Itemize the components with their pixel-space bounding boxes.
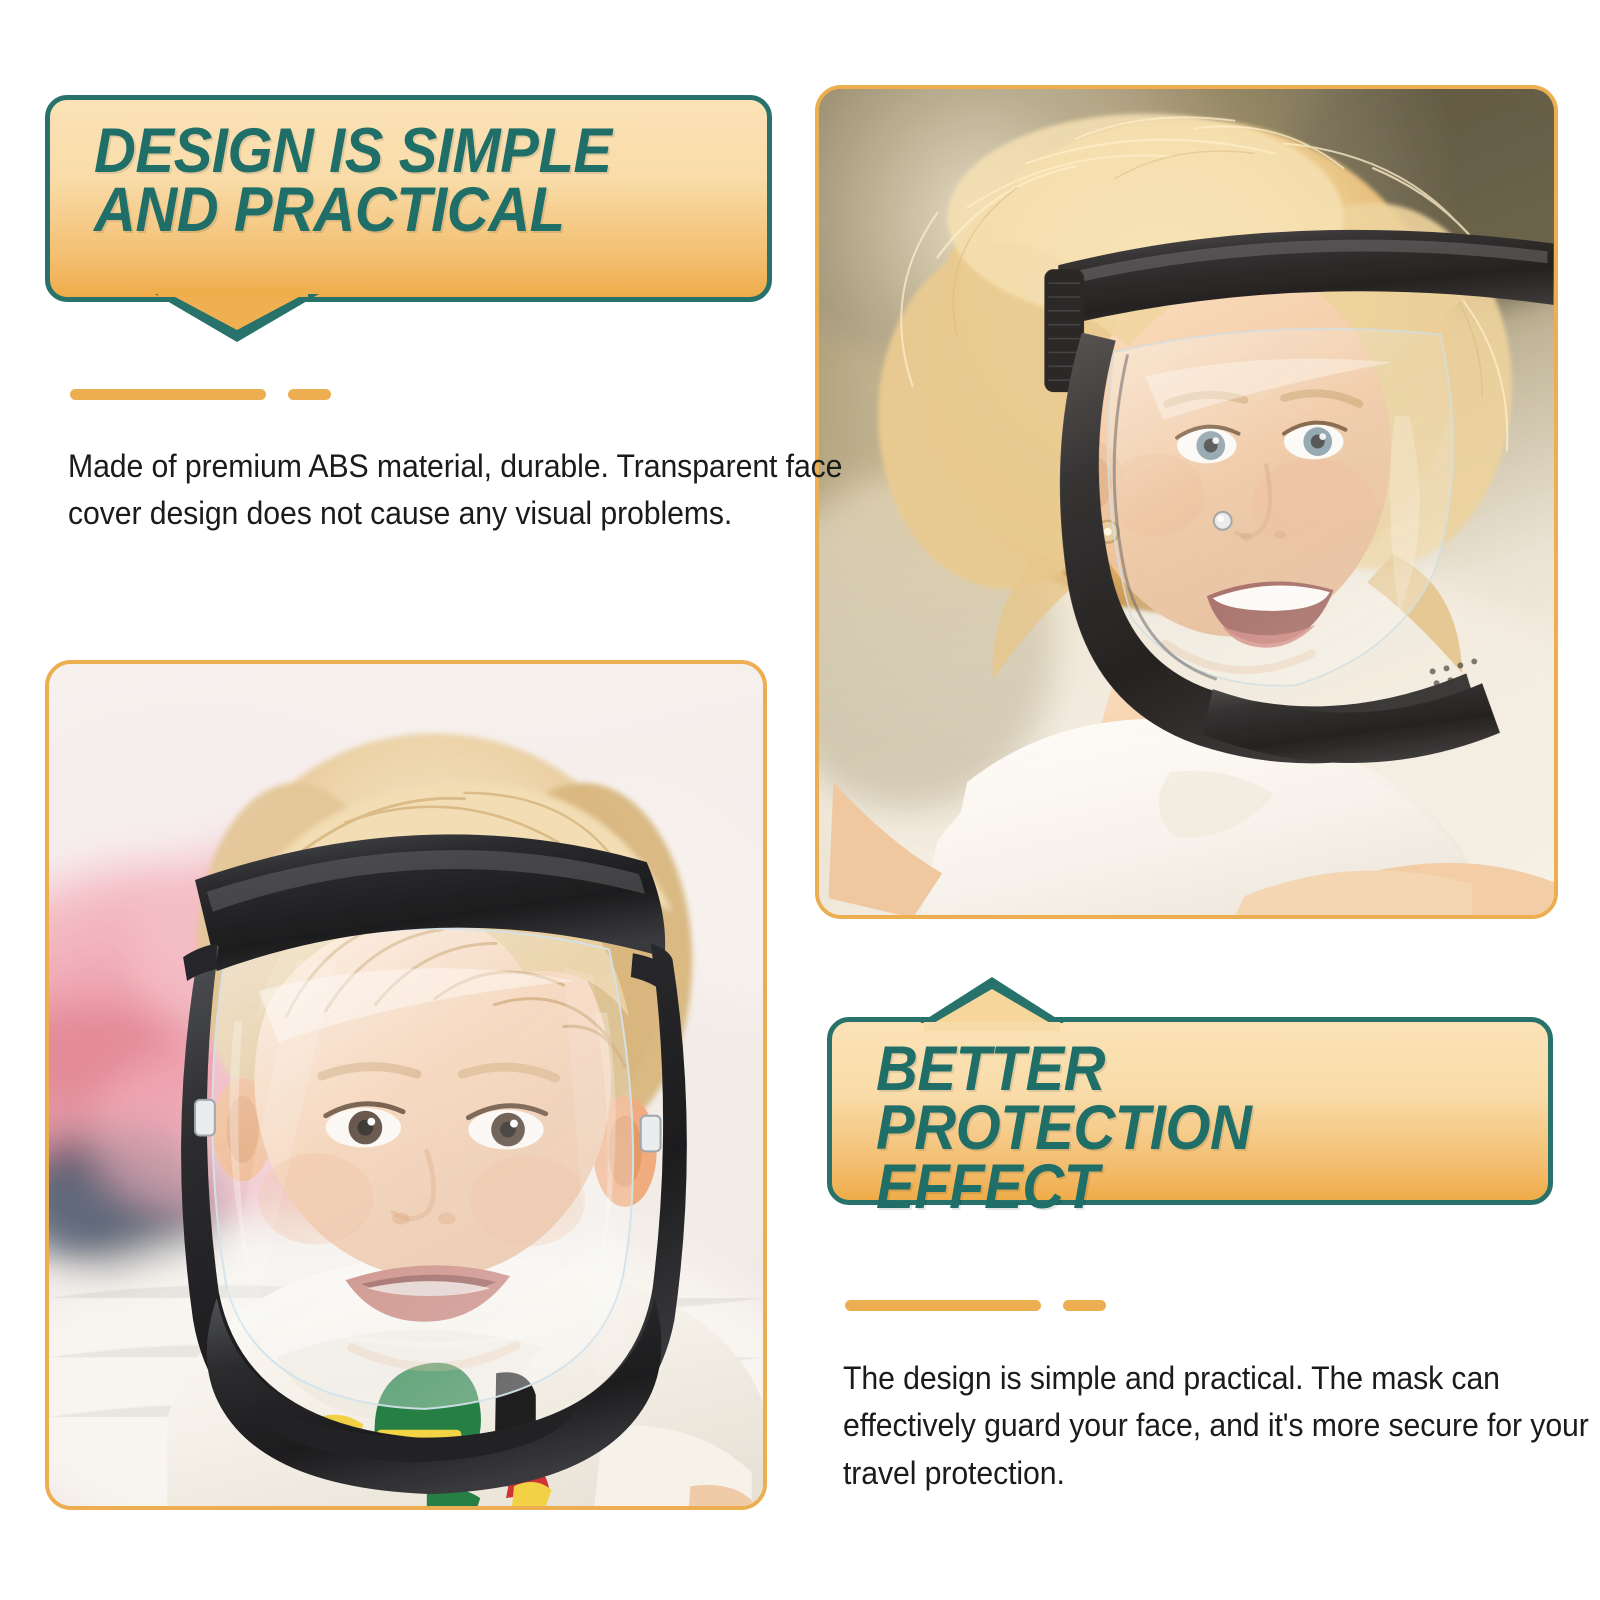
accent-dash-long-icon: [845, 1300, 1041, 1311]
banner-tail-down-cap: [158, 288, 308, 297]
banner-design-is-simple: DESIGN IS SIMPLE AND PRACTICAL: [45, 95, 772, 302]
accent-dash-short-icon: [1063, 1300, 1106, 1311]
photo-girl-outdoor-image: [819, 89, 1554, 915]
body-text-design: Made of premium ABS material, durable. T…: [68, 443, 849, 538]
accent-dash-short-icon: [288, 389, 331, 400]
banner-protection-title: BETTER PROTECTION EFFECT: [876, 1040, 1494, 1218]
banner-design-title: DESIGN IS SIMPLE AND PRACTICAL: [94, 122, 612, 240]
toddler-bed-illustration: [49, 664, 763, 1506]
photo-girl-outdoor: [815, 85, 1558, 919]
accent-rule-design: [70, 389, 331, 400]
body-text-protection: The design is simple and practical. The …: [843, 1355, 1596, 1497]
girl-outdoor-illustration: [819, 89, 1554, 915]
photo-toddler-bed: [45, 660, 767, 1510]
accent-rule-protection: [845, 1300, 1106, 1311]
accent-dash-long-icon: [70, 389, 266, 400]
banner-better-protection: BETTER PROTECTION EFFECT: [827, 1017, 1553, 1205]
photo-toddler-bed-image: [49, 664, 763, 1506]
banner-tail-up-cap: [924, 1022, 1060, 1031]
